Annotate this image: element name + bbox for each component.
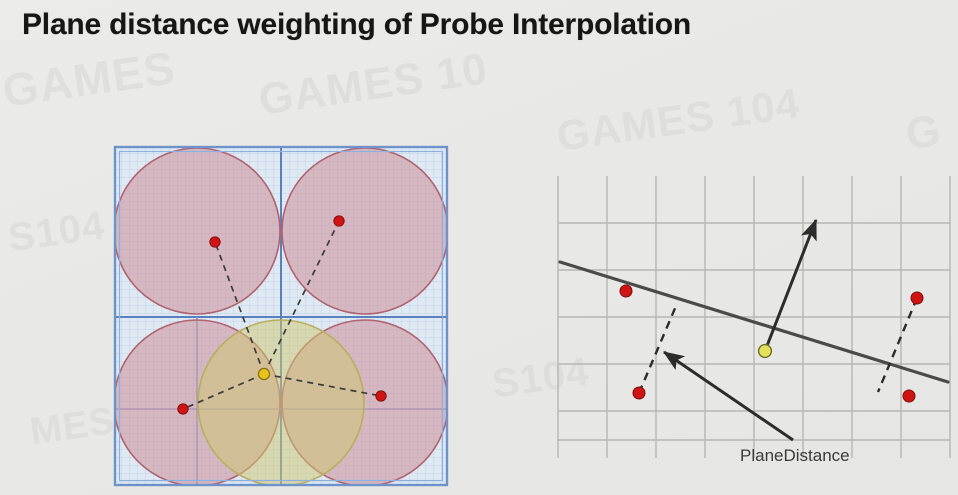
watermark-text: GAMES 104 [554, 79, 803, 161]
probe-point-upper-left [620, 285, 632, 297]
probe-grid-diagram [113, 145, 449, 487]
slide-canvas: GAMESGAMES 10GAMES 104GS104S104MES1 Plan… [0, 0, 958, 495]
probe-points [620, 285, 923, 402]
probe-circle-top-left [114, 148, 280, 314]
sample-point [759, 345, 772, 358]
probe-circle-top-right [282, 148, 448, 314]
plane-distance-svg: PlaneDistance [548, 168, 958, 478]
plane-distance-callout-arrow [664, 352, 793, 440]
probe-point-bottom-right [376, 391, 386, 401]
sample-point [258, 368, 269, 379]
reference-grid [558, 176, 950, 458]
sample-influence-circle [198, 320, 364, 486]
plane-distance-dash-right [878, 298, 917, 392]
distance-dashes [639, 298, 917, 393]
plane-distance-diagram: PlaneDistance [548, 168, 958, 478]
plane-distance-label: PlaneDistance [740, 446, 850, 465]
probe-point-lower-right [903, 390, 915, 402]
probe-point-upper-right [911, 292, 923, 304]
probe-point-top-left [210, 237, 220, 247]
watermark-text: S104 [5, 203, 108, 261]
page-title: Plane distance weighting of Probe Interp… [22, 8, 691, 42]
probe-point-top-right [334, 216, 344, 226]
surface-normal-arrow [765, 220, 816, 351]
probe-point-bottom-left [178, 404, 188, 414]
plane-distance-dash-left [639, 306, 676, 393]
probe-grid-svg [113, 145, 449, 487]
watermark-text: G [903, 106, 945, 160]
probe-point-lower-left [633, 387, 645, 399]
watermark-text: GAMES [0, 40, 179, 118]
watermark-text: GAMES 10 [256, 44, 491, 126]
